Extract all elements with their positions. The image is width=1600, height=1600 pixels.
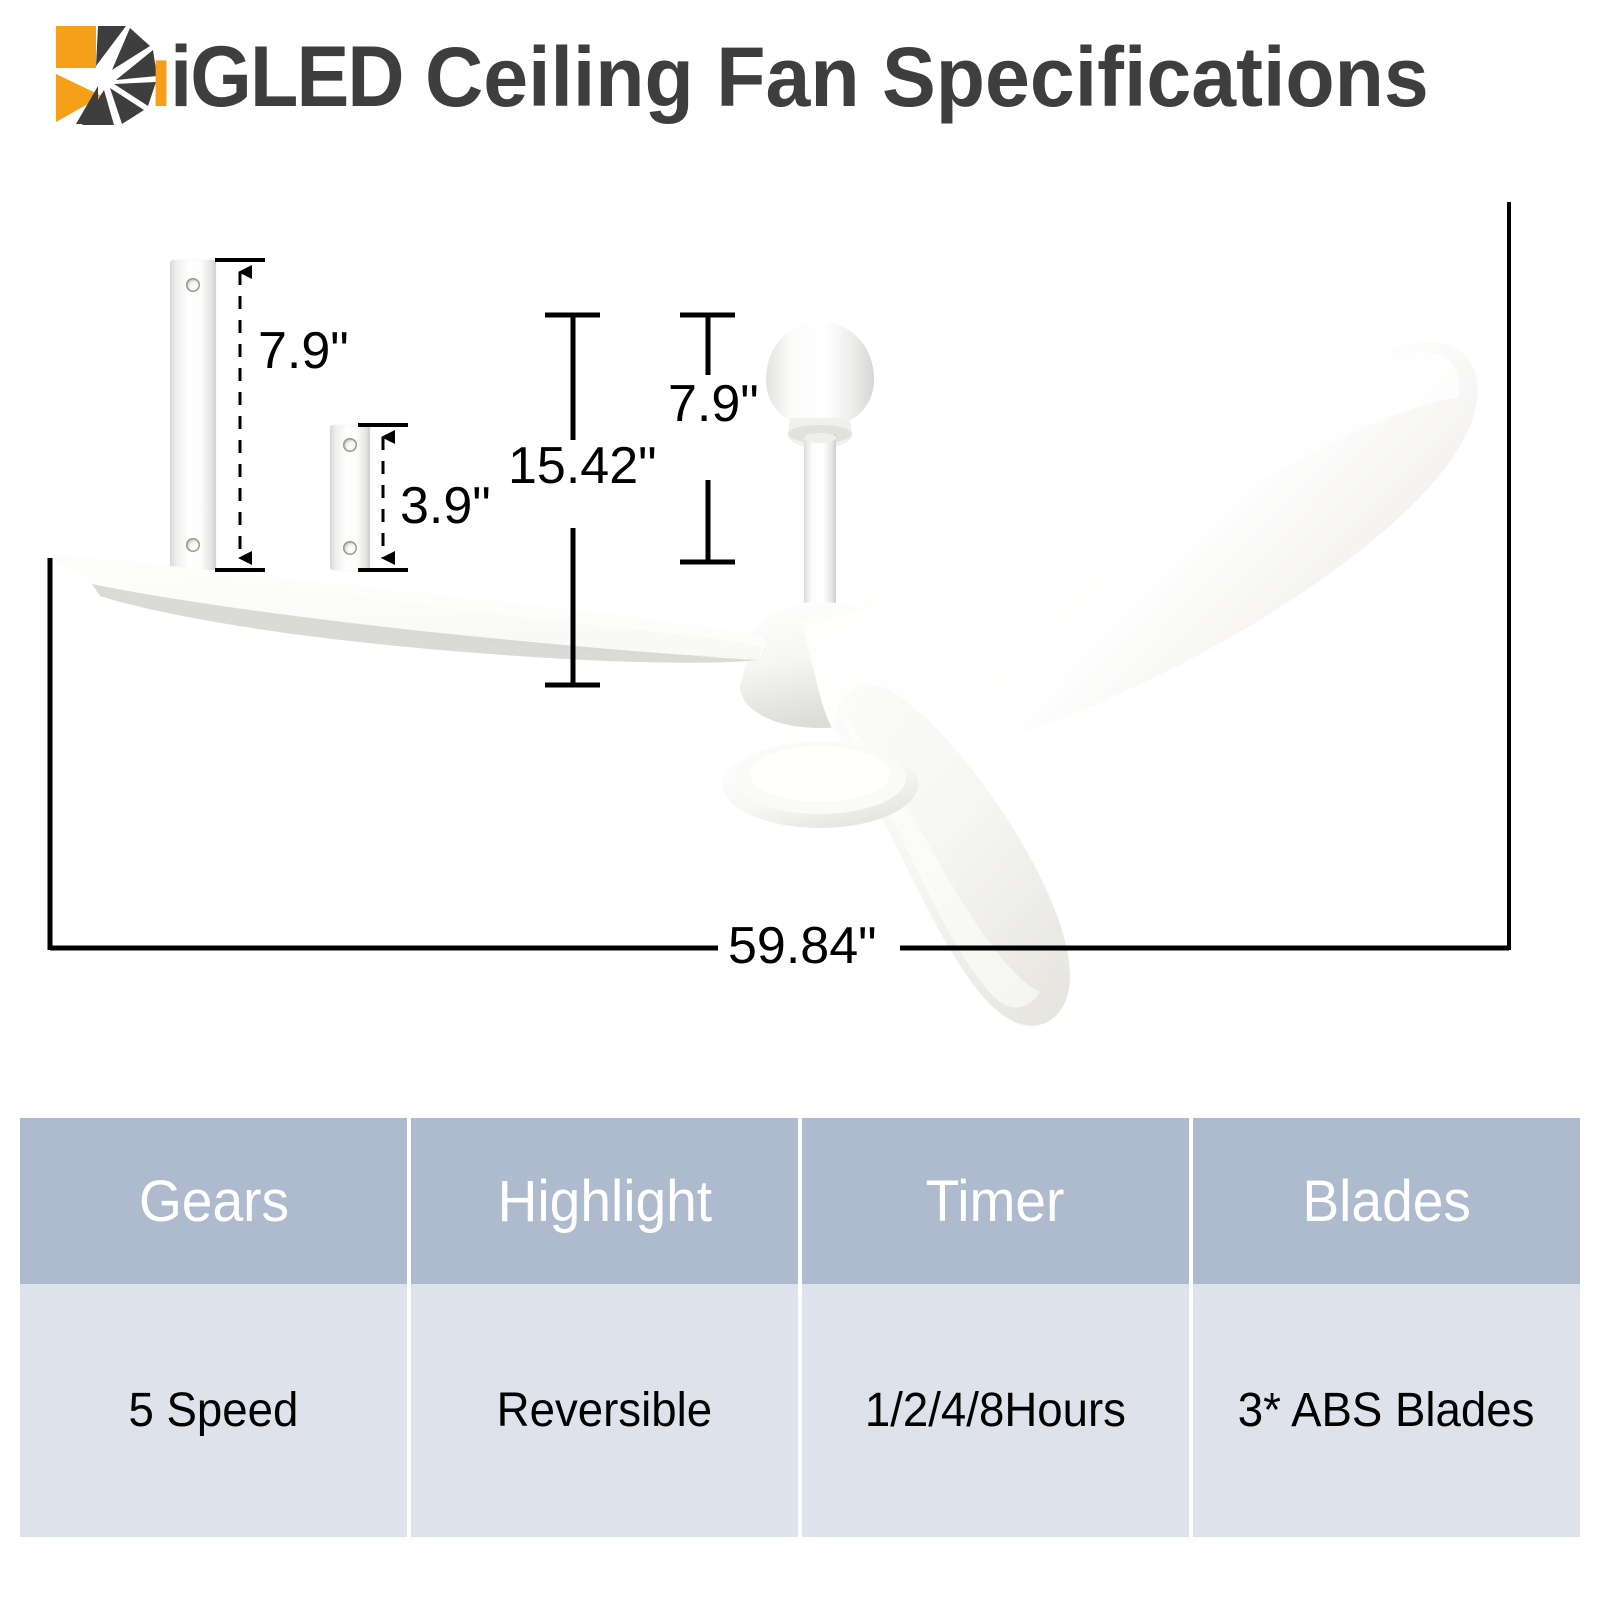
table-cell-highlight-value: Reversible [497,1383,712,1438]
light-kit-cover [722,740,918,828]
dimension-label-blade-span: 59.84" [728,920,877,972]
ceiling-fan-illustration [0,150,1600,1050]
table-header-timer-label: Timer [926,1168,1065,1235]
fan-blade-left [51,554,766,663]
page-title: Ceiling Fan Specifications [425,26,1429,128]
table-cell-highlight: Reversible [411,1284,798,1537]
table-header-gears: Gears [20,1118,407,1284]
dimension-label-total-height: 15.42" [508,440,657,492]
table-cell-blades-value: 3* ABS Blades [1238,1383,1535,1438]
logo-wordmark: ıiGLED [150,26,403,128]
table-header-highlight-label: Highlight [497,1168,711,1235]
page-header: ıiGLED Ceiling Fan Specifications [0,0,1600,150]
dimension-label-downrod-long: 7.9" [258,325,349,377]
table-cell-gears-value: 5 Speed [129,1383,299,1438]
dimension-label-drop-height: 7.9" [668,378,759,430]
table-body-row: 5 Speed Reversible 1/2/4/8Hours 3* ABS B… [20,1284,1580,1537]
table-header-blades: Blades [1193,1118,1580,1284]
ceiling-canopy [766,322,874,448]
fan-blade-upper-right [800,342,1478,759]
table-header-timer: Timer [802,1118,1189,1284]
table-cell-gears: 5 Speed [20,1284,407,1537]
digled-aperture-logo-icon [52,24,160,128]
table-header-blades-label: Blades [1302,1168,1470,1235]
table-header-highlight: Highlight [411,1118,798,1284]
table-header-row: Gears Highlight Timer Blades [20,1118,1580,1284]
table-cell-blades: 3* ABS Blades [1193,1284,1580,1537]
table-header-gears-label: Gears [138,1168,288,1235]
ceiling-fan-dimension-diagram: 7.9" 3.9" 15.42" 7.9" 59.84" [0,150,1600,1050]
table-cell-timer: 1/2/4/8Hours [802,1284,1189,1537]
specifications-table: Gears Highlight Timer Blades 5 Speed Rev… [20,1118,1580,1537]
table-cell-timer-value: 1/2/4/8Hours [865,1383,1126,1438]
dimension-label-downrod-short: 3.9" [400,480,491,532]
